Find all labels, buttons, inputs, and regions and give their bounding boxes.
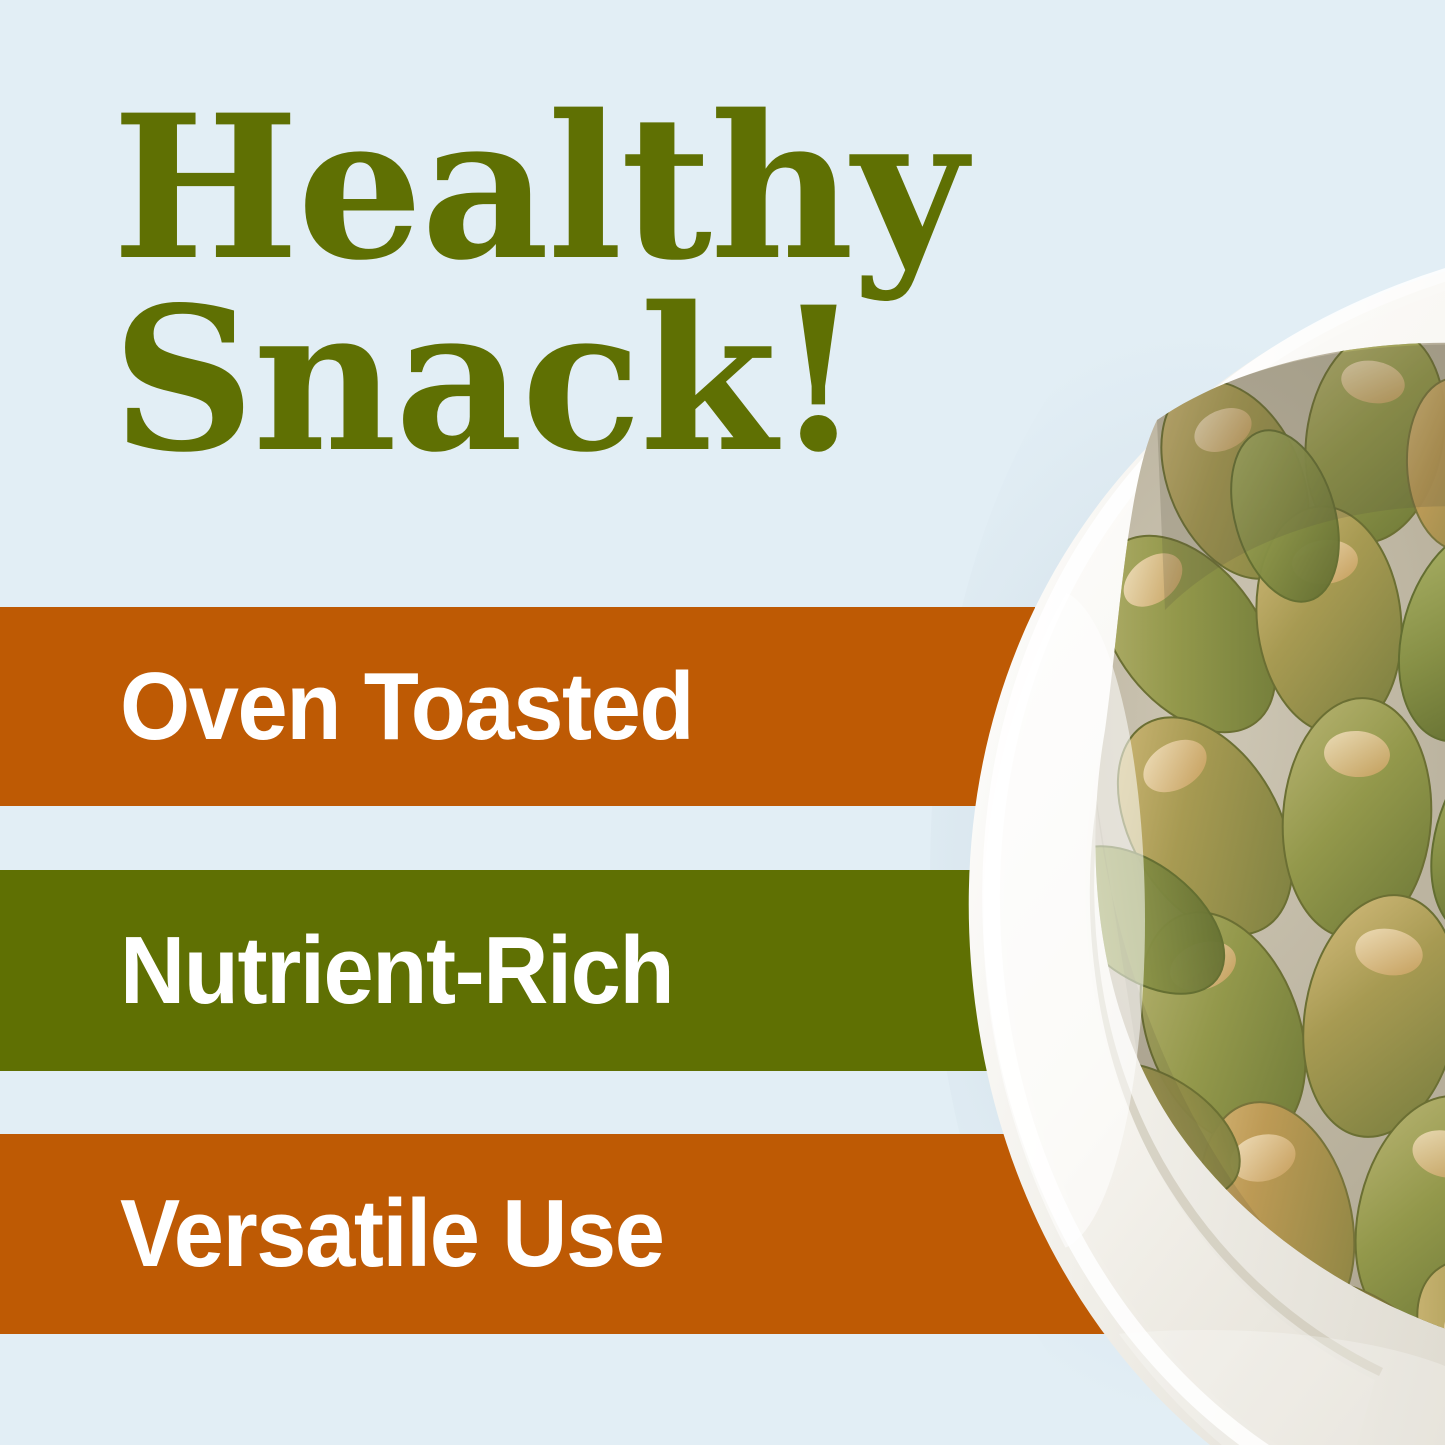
feature-band-nutrient-rich: Nutrient-Rich (0, 870, 1035, 1071)
feature-band-oven-toasted: Oven Toasted (0, 607, 1035, 806)
product-feature-graphic: Healthy Snack! Oven Toasted Nutrient-Ric… (0, 0, 1445, 1445)
feature-label: Nutrient-Rich (120, 923, 673, 1019)
feature-label: Versatile Use (120, 1186, 664, 1282)
page-title: Healthy Snack! (112, 92, 1012, 476)
feature-band-versatile-use: Versatile Use (0, 1134, 1170, 1334)
feature-label: Oven Toasted (120, 659, 693, 755)
